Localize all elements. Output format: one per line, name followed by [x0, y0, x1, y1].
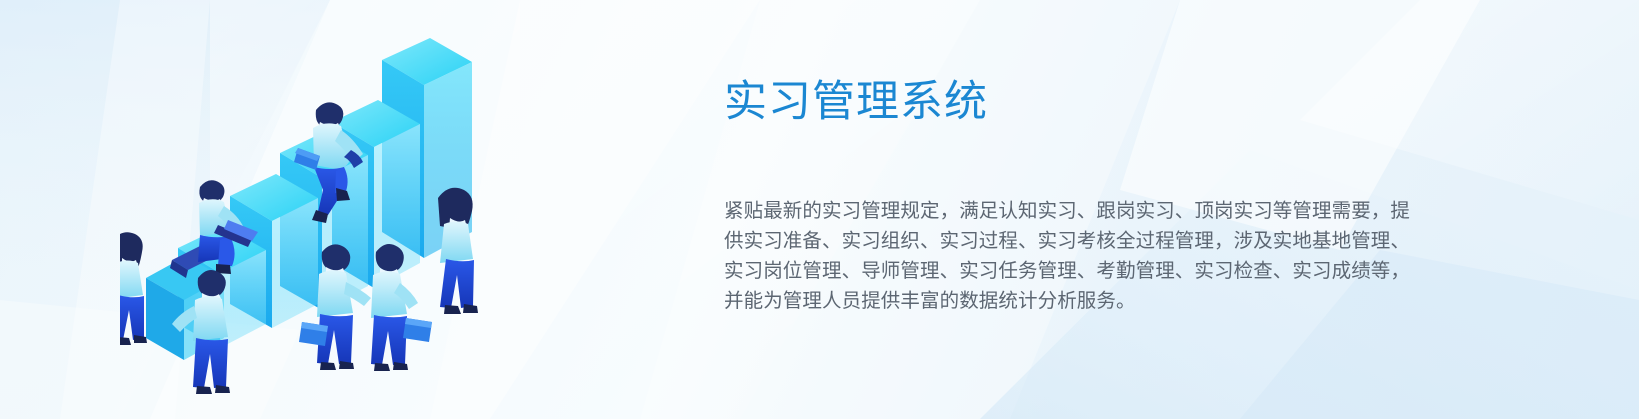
description-line-1: 紧贴最新的实习管理规定，满足认知实习、跟岗实习、顶岗实习等管理需要，提: [724, 196, 1396, 226]
person-woman-left: [120, 232, 147, 345]
page-banner: 实习管理系统 紧贴最新的实习管理规定，满足认知实习、跟岗实习、顶岗实习等管理需要…: [0, 0, 1639, 419]
description-line-2: 供实习准备、实习组织、实习过程、实习考核全过程管理，涉及实地基地管理、: [724, 226, 1396, 256]
description-line-4: 并能为管理人员提供丰富的数据统计分析服务。: [724, 286, 1396, 316]
page-title: 实习管理系统: [724, 79, 988, 126]
person-woman-right: [438, 188, 478, 314]
banner-text-column: 实习管理系统 紧贴最新的实习管理规定，满足认知实习、跟岗实习、顶岗实习等管理需要…: [724, 0, 1414, 419]
description-line-3: 实习岗位管理、导师管理、实习任务管理、考勤管理、实习检查、实习成绩等，: [724, 256, 1396, 286]
isometric-bar-chart-icon: [120, 10, 520, 410]
growth-chart-illustration: [120, 10, 520, 410]
banner-description: 紧贴最新的实习管理规定，满足认知实习、跟岗实习、顶岗实习等管理需要，提 供实习准…: [724, 196, 1396, 316]
person-man-briefcase: [371, 244, 432, 371]
